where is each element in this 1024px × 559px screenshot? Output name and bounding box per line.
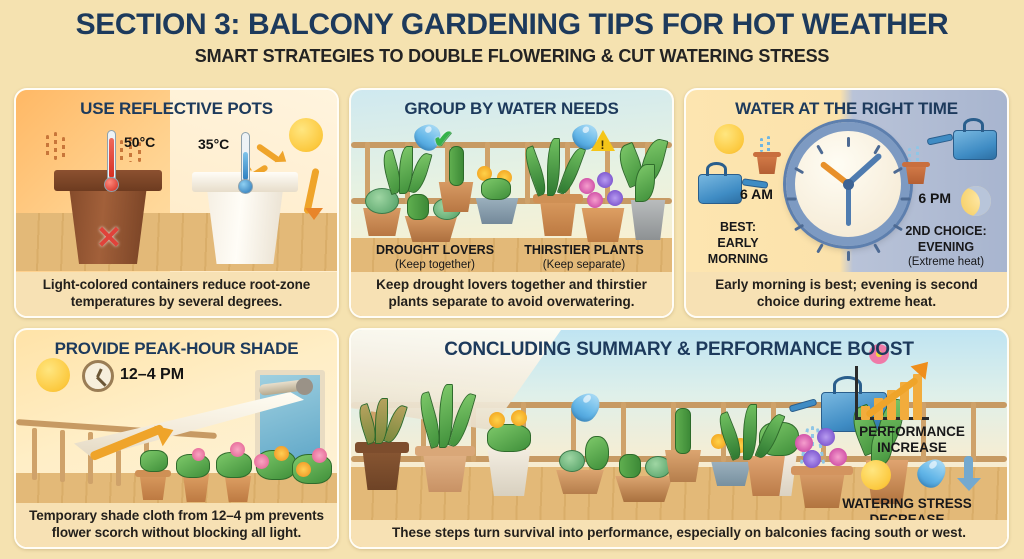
marigold-pot: [471, 198, 523, 224]
water-spray-morning-2: [767, 136, 770, 152]
fern-pot: [535, 194, 581, 236]
cool-temp-label: 35°C: [198, 136, 229, 152]
panel-2-caption: Keep drought lovers together and thirsti…: [351, 272, 672, 316]
performance-increase-line1: PERFORMANCE: [823, 424, 1001, 440]
succulent-1: [559, 450, 585, 472]
water-spray-evening-2: [916, 146, 919, 162]
column-cactus: [675, 408, 691, 454]
thermometer-hot: [104, 130, 119, 192]
thermometer-cool-bulb: [238, 179, 253, 194]
agave-pot: [417, 446, 473, 492]
clock-tick: [786, 198, 796, 201]
watering-can-morning: [698, 174, 742, 204]
fern-pot: [743, 456, 789, 496]
barrel-cactus: [619, 454, 641, 478]
panel-row-top: 50°C ✕ 35°C USE REFLECTIVE POTS Light-co…: [14, 88, 1010, 318]
panel-4-caption: Temporary shade cloth from 12–4 pm preve…: [16, 503, 337, 547]
panel-2-title: GROUP BY WATER NEEDS: [351, 99, 672, 119]
succulent-rosette: [585, 436, 609, 470]
clock-tick: [847, 251, 850, 261]
evening-time-label: 6 PM: [918, 190, 951, 206]
morning-heading-line3: MORNING: [692, 252, 784, 267]
warning-mark: !: [601, 138, 605, 152]
reflection-arrow-3-head: [305, 208, 323, 220]
evening-heading-line2: EVENING: [887, 240, 1005, 255]
succulent-bowl-1: [551, 470, 609, 494]
watering-stress-line1: WATERING STRESS: [809, 496, 1005, 512]
panel-4-title: PROVIDE PEAK-HOUR SHADE: [16, 339, 337, 359]
heat-wave-4: [120, 140, 123, 162]
panel-1-caption: Light-colored containers reduce root-zon…: [16, 272, 337, 316]
panel-1-title: USE REFLECTIVE POTS: [16, 99, 337, 119]
heat-wave-3: [62, 137, 65, 159]
heat-wave-2: [54, 132, 57, 160]
orange-flower-1: [274, 446, 289, 461]
clock-tick: [794, 167, 804, 175]
hot-temp-label: 50°C: [124, 134, 155, 150]
awning-end-cap: [296, 378, 313, 395]
sun-icon: [714, 124, 744, 154]
clock-tick: [847, 137, 850, 147]
marigold-foliage: [481, 178, 511, 200]
panel-row-bottom: 12–4 PM: [14, 328, 1010, 549]
clock-tick: [900, 198, 910, 201]
sun-icon: [289, 118, 323, 152]
flower-pot-3: [222, 476, 254, 502]
clock-tick: [794, 224, 804, 232]
marigold-foliage: [487, 424, 531, 452]
morning-heading-line2: EARLY: [692, 236, 784, 251]
panel-concluding-summary[interactable]: PERFORMANCE INCREASE WATERING STRESS DEC…: [349, 328, 1009, 549]
morning-time-label: 6 AM: [740, 186, 773, 202]
pink-flower-3: [312, 448, 327, 463]
foliage-1: [140, 450, 168, 472]
sun-icon: [861, 460, 891, 490]
marigold-pot: [483, 450, 535, 496]
clock-tick: [873, 243, 881, 253]
aloe-pot: [357, 442, 407, 490]
petunia-pot: [577, 208, 629, 242]
pink-flower-1: [230, 442, 245, 457]
column-cactus: [449, 146, 464, 186]
clock-tick: [892, 167, 902, 175]
page-subtitle: SMART STRATEGIES TO DOUBLE FLOWERING & C…: [0, 46, 1024, 67]
drought-lovers-sub: (Keep together): [361, 259, 509, 273]
panel-3-caption: Early morning is best; evening is second…: [686, 272, 1007, 316]
panel-water-at-right-time[interactable]: 6 AM BEST: EARLY MORNING: [684, 88, 1009, 318]
small-pot-evening: [903, 162, 929, 184]
panel-5-caption: These steps turn survival into performan…: [351, 520, 1007, 547]
thirstier-plants-heading: THIRSTIER PLANTS: [504, 243, 664, 258]
decrease-arrow-head: [957, 478, 981, 491]
clock-second-hand: [846, 184, 851, 226]
flower-pot-2: [180, 474, 212, 502]
water-spray-morning: [760, 138, 763, 152]
petunia-2: [597, 172, 613, 188]
tall-cactus-pot: [661, 450, 705, 482]
leafy-plant-pot: [627, 200, 669, 240]
moon-icon: [961, 186, 991, 216]
heat-wave-1: [46, 135, 49, 159]
thermometer-hot-fill: [109, 138, 114, 178]
clock-tick: [816, 243, 824, 253]
evening-heading-line1: 2ND CHOICE:: [887, 224, 1005, 239]
panel-group-by-water-needs[interactable]: ✔ !: [349, 88, 674, 318]
marigold-flower-2: [511, 410, 527, 426]
panel-3-title: WATER AT THE RIGHT TIME: [686, 99, 1007, 119]
warning-icon: !: [591, 130, 615, 151]
panel-grid: 50°C ✕ 35°C USE REFLECTIVE POTS Light-co…: [14, 88, 1010, 549]
page-title: SECTION 3: BALCONY GARDENING TIPS FOR HO…: [0, 8, 1024, 41]
performance-increase-line2: INCREASE: [823, 440, 1001, 456]
panel-reflective-pots[interactable]: 50°C ✕ 35°C USE REFLECTIVE POTS Light-co…: [14, 88, 339, 318]
thermometer-hot-bulb: [104, 177, 119, 192]
drought-lovers-heading: DROUGHT LOVERS: [361, 243, 509, 258]
panel-5-illustration: PERFORMANCE INCREASE WATERING STRESS DEC…: [351, 330, 1007, 547]
clock-center-pin: [843, 179, 854, 190]
thermometer-cool-fill: [243, 152, 248, 180]
evening-sub: (Extreme heat): [887, 256, 1005, 270]
small-pot-morning: [754, 152, 780, 174]
watering-can-evening: [953, 130, 997, 160]
panel-peak-hour-shade[interactable]: 12–4 PM: [14, 328, 339, 549]
panel-5-title: CONCLUDING SUMMARY & PERFORMANCE BOOST: [351, 339, 1007, 361]
barrel-cactus: [407, 194, 429, 220]
marigold-flower-1: [489, 412, 505, 428]
orange-flower-2: [296, 462, 311, 477]
morning-heading-line1: BEST:: [692, 220, 784, 235]
cross-icon: ✕: [96, 222, 122, 253]
petunia-4: [607, 190, 623, 206]
petunia-3: [803, 450, 821, 468]
water-spray-evening: [908, 148, 911, 162]
thermometer-cool: [238, 132, 253, 194]
shade-time-label: 12–4 PM: [120, 366, 184, 384]
thirstier-plants-sub: (Keep separate): [504, 259, 664, 273]
sun-icon: [36, 358, 70, 392]
flower-pot-1: [136, 470, 170, 500]
infographic-header: SECTION 3: BALCONY GARDENING TIPS FOR HO…: [0, 0, 1024, 71]
petunia-3: [587, 192, 603, 208]
pink-flower-2: [254, 454, 269, 469]
clock-tick: [816, 145, 824, 155]
pink-flower-4: [192, 448, 205, 461]
succulent-pot-2: [399, 216, 463, 242]
